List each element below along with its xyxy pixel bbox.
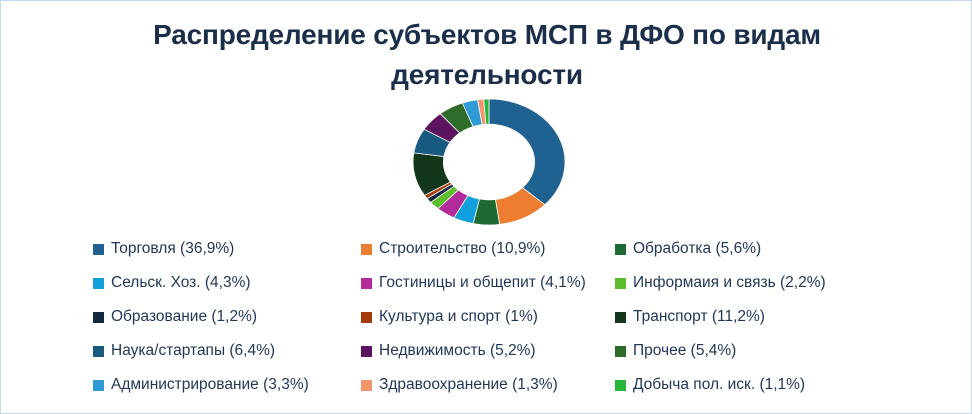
- legend-label-agriculture: Сельск. Хоз. (4,3%): [111, 274, 251, 292]
- legend-item-transport[interactable]: Транспорт (11,2%): [615, 308, 905, 326]
- legend-swatch-agriculture: [93, 278, 104, 289]
- legend-label-hotels-catering: Гостиницы и общепит (4,1%): [379, 274, 586, 292]
- chart-card: Распределение субъектов МСП в ДФО по вид…: [0, 0, 972, 414]
- legend-label-other: Прочее (5,4%): [633, 342, 736, 360]
- legend-label-transport: Транспорт (11,2%): [633, 308, 765, 326]
- legend-swatch-mining: [615, 380, 626, 391]
- legend-label-education: Образование (1,2%): [111, 308, 257, 326]
- legend-swatch-culture-sport: [361, 312, 372, 323]
- legend-swatch-real-estate: [361, 346, 372, 357]
- legend-item-culture-sport[interactable]: Культура и спорт (1%): [361, 308, 615, 326]
- legend-item-science-startups[interactable]: Наука/стартапы (6,4%): [93, 342, 361, 360]
- legend-item-trade[interactable]: Торговля (36,9%): [93, 240, 361, 258]
- legend-label-information-communication: Информаия и связь (2,2%): [633, 274, 826, 292]
- legend-label-manufacturing: Обработка (5,6%): [633, 240, 761, 258]
- legend-label-science-startups: Наука/стартапы (6,4%): [111, 342, 275, 360]
- legend-label-trade: Торговля (36,9%): [111, 240, 234, 258]
- legend-item-healthcare[interactable]: Здравоохранение (1,3%): [361, 376, 615, 394]
- legend-label-culture-sport: Культура и спорт (1%): [379, 308, 538, 326]
- legend-item-other[interactable]: Прочее (5,4%): [615, 342, 905, 360]
- legend-label-construction: Строительство (10,9%): [379, 240, 545, 258]
- legend-swatch-other: [615, 346, 626, 357]
- legend-label-mining: Добыча пол. иск. (1,1%): [633, 376, 805, 394]
- legend-item-education[interactable]: Образование (1,2%): [93, 308, 361, 326]
- legend-item-hotels-catering[interactable]: Гостиницы и общепит (4,1%): [361, 274, 615, 292]
- legend-swatch-information-communication: [615, 278, 626, 289]
- legend-item-agriculture[interactable]: Сельск. Хоз. (4,3%): [93, 274, 361, 292]
- donut-chart-svg: [412, 98, 566, 226]
- donut-chart: [412, 98, 566, 226]
- legend-swatch-construction: [361, 244, 372, 255]
- legend-item-construction[interactable]: Строительство (10,9%): [361, 240, 615, 258]
- legend-label-healthcare: Здравоохранение (1,3%): [379, 376, 558, 394]
- legend-item-administration[interactable]: Администрирование (3,3%): [93, 376, 361, 394]
- legend-swatch-science-startups: [93, 346, 104, 357]
- legend-swatch-hotels-catering: [361, 278, 372, 289]
- chart-legend: Торговля (36,9%)Строительство (10,9%)Обр…: [93, 232, 953, 402]
- legend-swatch-education: [93, 312, 104, 323]
- legend-label-administration: Администрирование (3,3%): [111, 376, 309, 394]
- legend-swatch-healthcare: [361, 380, 372, 391]
- legend-label-real-estate: Недвижимость (5,2%): [379, 342, 536, 360]
- donut-slices: [413, 99, 565, 225]
- legend-swatch-manufacturing: [615, 244, 626, 255]
- legend-item-information-communication[interactable]: Информаия и связь (2,2%): [615, 274, 905, 292]
- legend-item-manufacturing[interactable]: Обработка (5,6%): [615, 240, 905, 258]
- legend-swatch-transport: [615, 312, 626, 323]
- legend-swatch-trade: [93, 244, 104, 255]
- chart-title: Распределение субъектов МСП в ДФО по вид…: [61, 15, 913, 95]
- legend-item-real-estate[interactable]: Недвижимость (5,2%): [361, 342, 615, 360]
- legend-swatch-administration: [93, 380, 104, 391]
- donut-slice-trade[interactable]: [489, 99, 565, 205]
- legend-item-mining[interactable]: Добыча пол. иск. (1,1%): [615, 376, 905, 394]
